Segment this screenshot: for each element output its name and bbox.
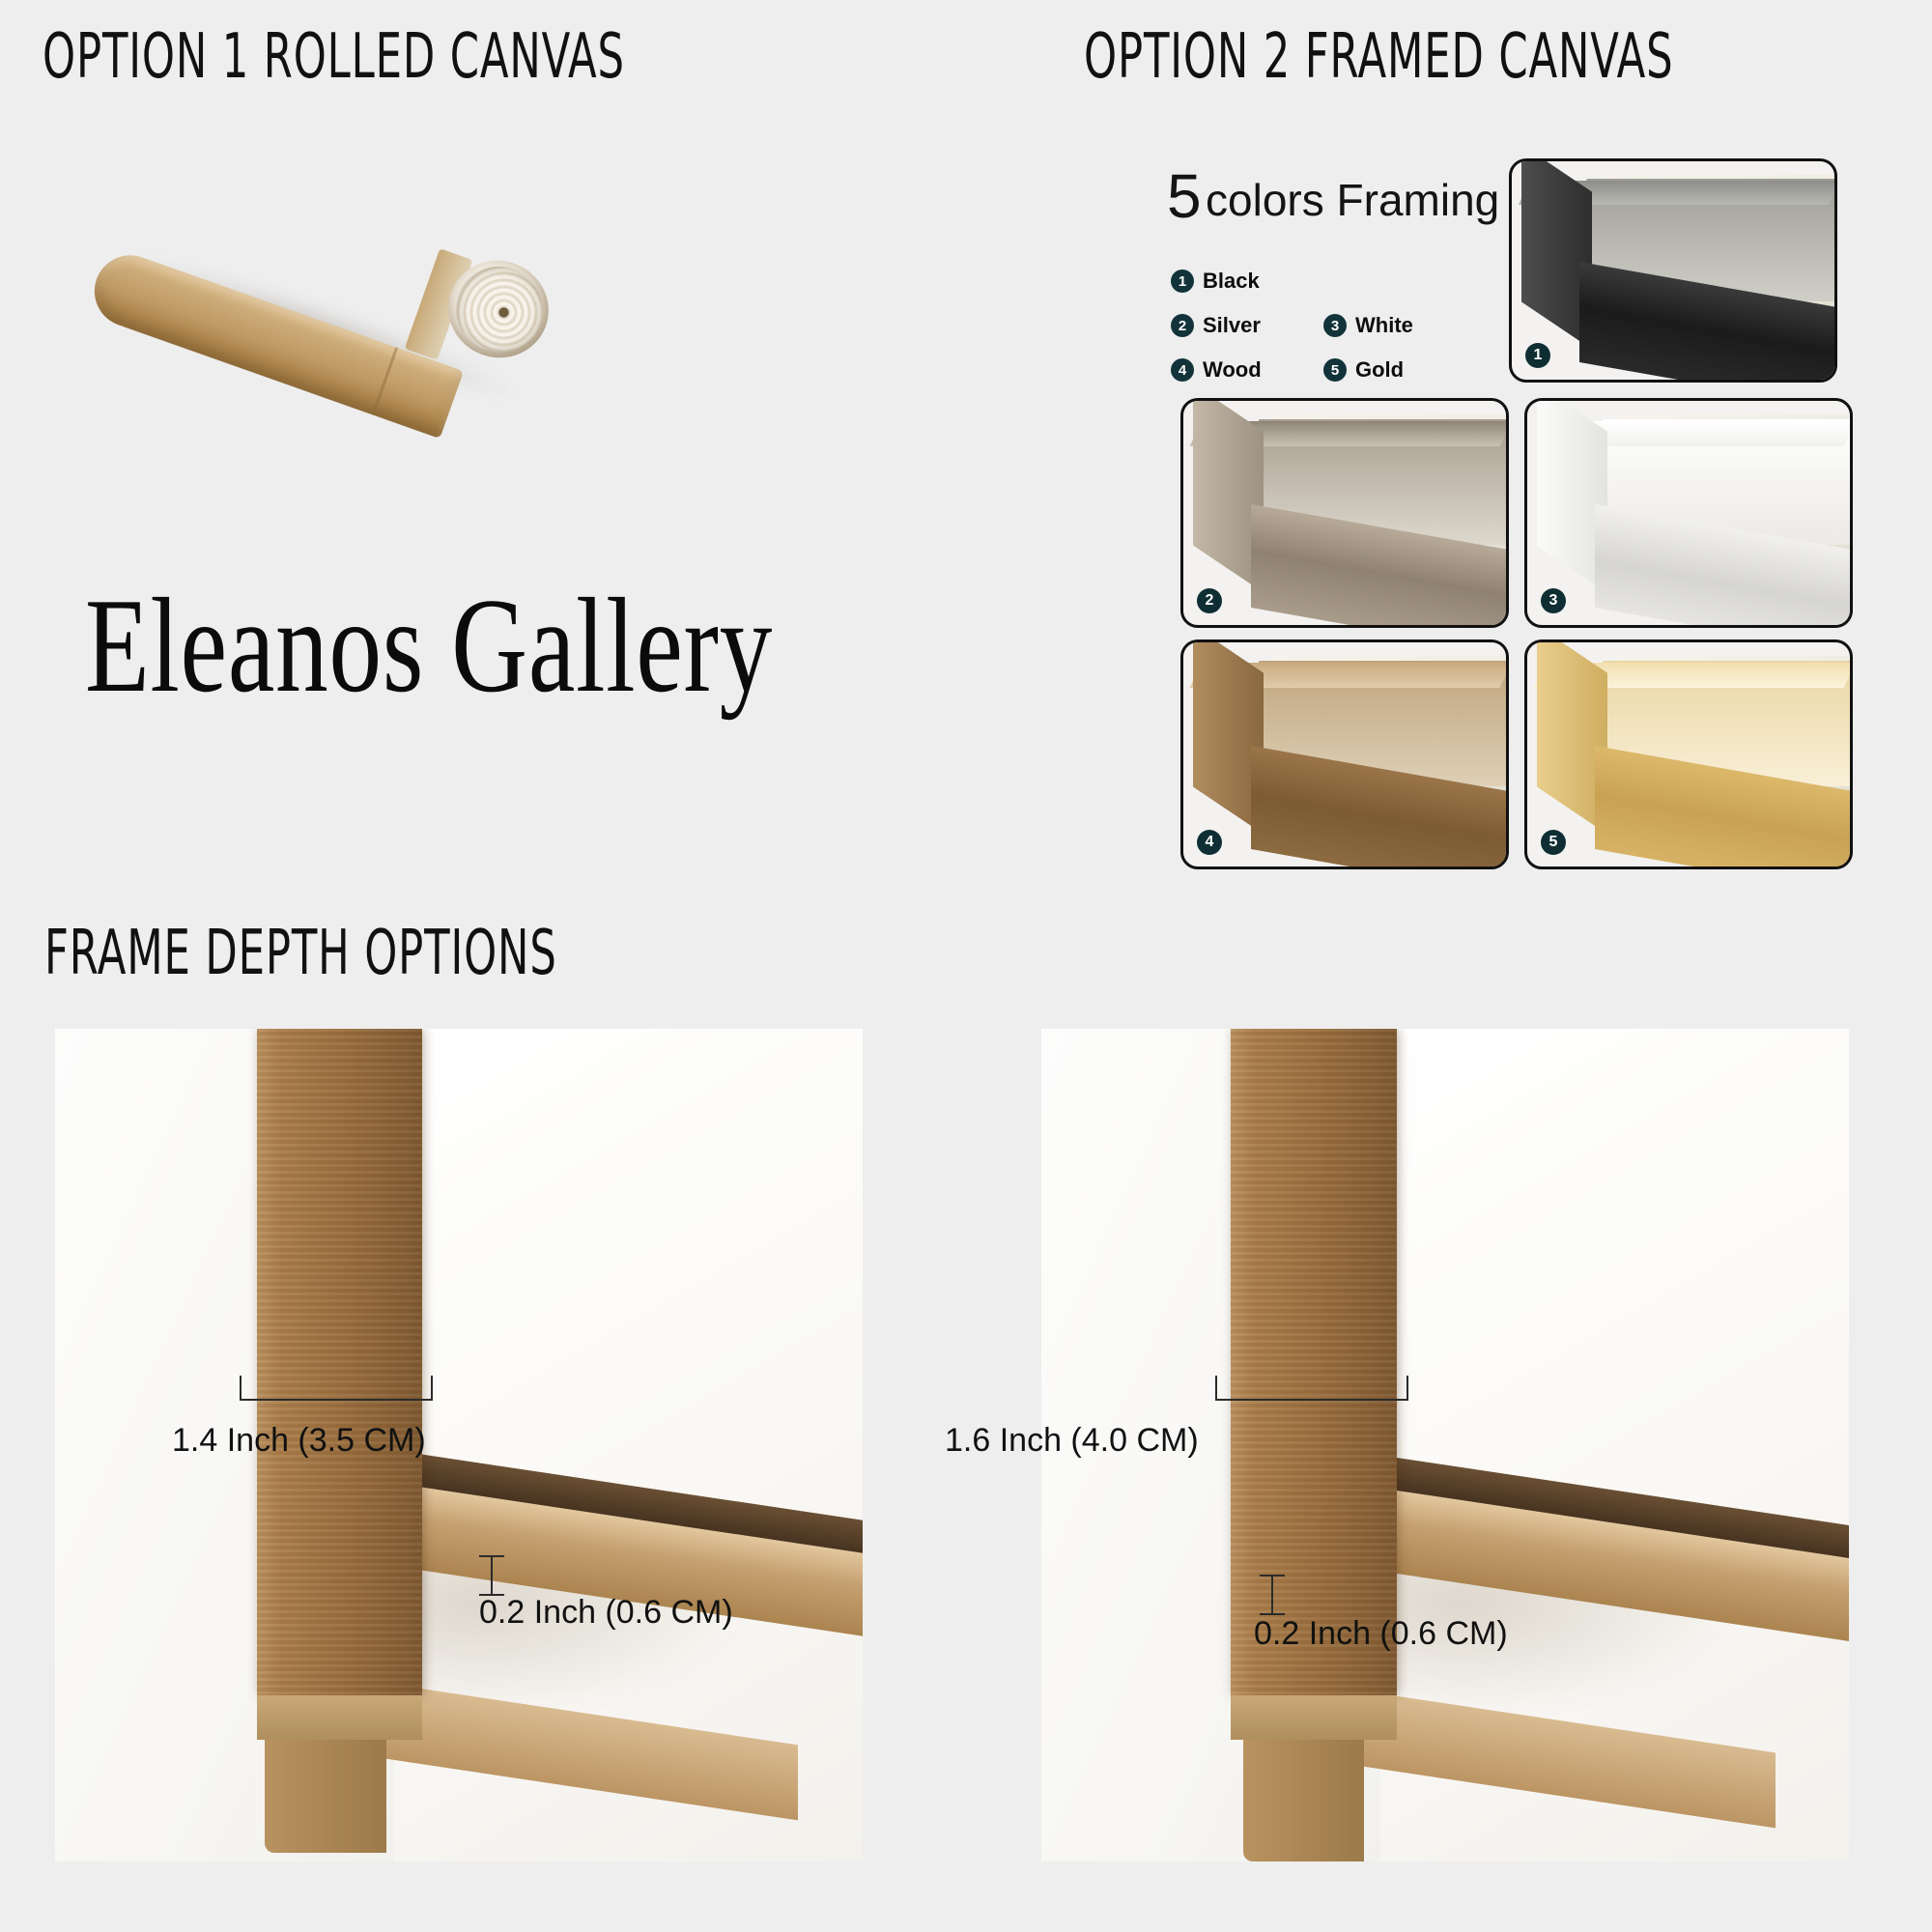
dimension-line-thickness-right bbox=[1271, 1575, 1273, 1615]
legend-item-gold[interactable]: 5 Gold bbox=[1323, 357, 1432, 383]
legend-label: Wood bbox=[1203, 357, 1262, 383]
legend-item-white[interactable]: 3 White bbox=[1323, 313, 1432, 338]
legend-item-black[interactable]: 1 Black bbox=[1171, 269, 1279, 294]
legend-label: Black bbox=[1203, 269, 1260, 294]
white-frame-sample-tile[interactable]: 3 bbox=[1524, 398, 1853, 628]
number-badge-icon: 2 bbox=[1197, 588, 1222, 613]
silver-frame-sample-tile[interactable]: 2 bbox=[1180, 398, 1509, 628]
legend-item-wood[interactable]: 4 Wood bbox=[1171, 357, 1279, 383]
dimension-label-thickness-right: 0.2 Inch (0.6 CM) bbox=[1254, 1615, 1508, 1653]
number-badge-icon: 1 bbox=[1525, 343, 1550, 368]
frame-corner-render bbox=[1183, 642, 1506, 867]
product-infographic: OPTION 1 ROLLED CANVAS OPTION 2 FRAMED C… bbox=[0, 0, 1932, 1932]
number-badge-icon: 1 bbox=[1171, 270, 1194, 293]
legend-label: Gold bbox=[1355, 357, 1404, 383]
dimension-label-width-left: 1.4 Inch (3.5 CM) bbox=[172, 1422, 426, 1460]
dimension-line-width-right bbox=[1215, 1399, 1408, 1401]
frame-corner-render bbox=[1512, 161, 1834, 380]
option-2-heading: OPTION 2 FRAMED CANVAS bbox=[1084, 21, 1674, 93]
dimension-tick bbox=[479, 1555, 504, 1557]
legend-label: White bbox=[1355, 313, 1413, 338]
legend-item-silver[interactable]: 2 Silver bbox=[1171, 313, 1279, 338]
frame-bottom-face bbox=[257, 1695, 422, 1741]
gold-frame-sample-tile[interactable]: 5 bbox=[1524, 639, 1853, 869]
number-badge-icon: 4 bbox=[1171, 358, 1194, 382]
number-badge-icon: 3 bbox=[1323, 314, 1347, 337]
brand-logo: Eleanos Gallery bbox=[85, 568, 773, 724]
framing-colors-heading: 5 colors Framing bbox=[1167, 160, 1499, 232]
black-frame-sample-tile[interactable]: 1 bbox=[1509, 158, 1837, 383]
frame-corner-render bbox=[1527, 642, 1850, 867]
framing-colors-text: colors Framing bbox=[1206, 175, 1499, 225]
dimension-tick bbox=[240, 1376, 241, 1401]
dimension-tick bbox=[1215, 1376, 1217, 1401]
wood-frame-sample-tile[interactable]: 4 bbox=[1180, 639, 1509, 869]
legend-row: 2 Silver 3 White bbox=[1171, 313, 1461, 338]
dimension-tick bbox=[431, 1376, 433, 1401]
dimension-label-width-right: 1.6 Inch (4.0 CM) bbox=[945, 1422, 1199, 1460]
dimension-label-thickness-left: 0.2 Inch (0.6 CM) bbox=[479, 1594, 733, 1632]
dimension-tick bbox=[1406, 1376, 1408, 1401]
dimension-line-thickness-left bbox=[491, 1555, 493, 1596]
rolled-canvas-tube-image bbox=[77, 145, 580, 415]
number-badge-icon: 5 bbox=[1323, 358, 1347, 382]
frame-bottom-face bbox=[1231, 1695, 1396, 1741]
dimension-tick bbox=[1260, 1575, 1285, 1577]
framing-colors-count: 5 bbox=[1167, 161, 1202, 231]
framing-colors-legend: 1 Black 2 Silver 3 White 4 Wood 5 Gold bbox=[1171, 269, 1461, 402]
frame-depth-heading: FRAME DEPTH OPTIONS bbox=[44, 918, 557, 989]
legend-label: Silver bbox=[1203, 313, 1261, 338]
number-badge-icon: 5 bbox=[1541, 830, 1566, 855]
number-badge-icon: 2 bbox=[1171, 314, 1194, 337]
dimension-line-width-left bbox=[240, 1399, 433, 1401]
option-1-heading: OPTION 1 ROLLED CANVAS bbox=[43, 21, 625, 93]
frame-vertical-edge bbox=[257, 1029, 422, 1695]
frame-corner-render bbox=[1183, 401, 1506, 625]
number-badge-icon: 4 bbox=[1197, 830, 1222, 855]
number-badge-icon: 3 bbox=[1541, 588, 1566, 613]
legend-row: 1 Black bbox=[1171, 269, 1461, 294]
frame-corner-render bbox=[1527, 401, 1850, 625]
legend-row: 4 Wood 5 Gold bbox=[1171, 357, 1461, 383]
frame-vertical-edge bbox=[1231, 1029, 1396, 1695]
